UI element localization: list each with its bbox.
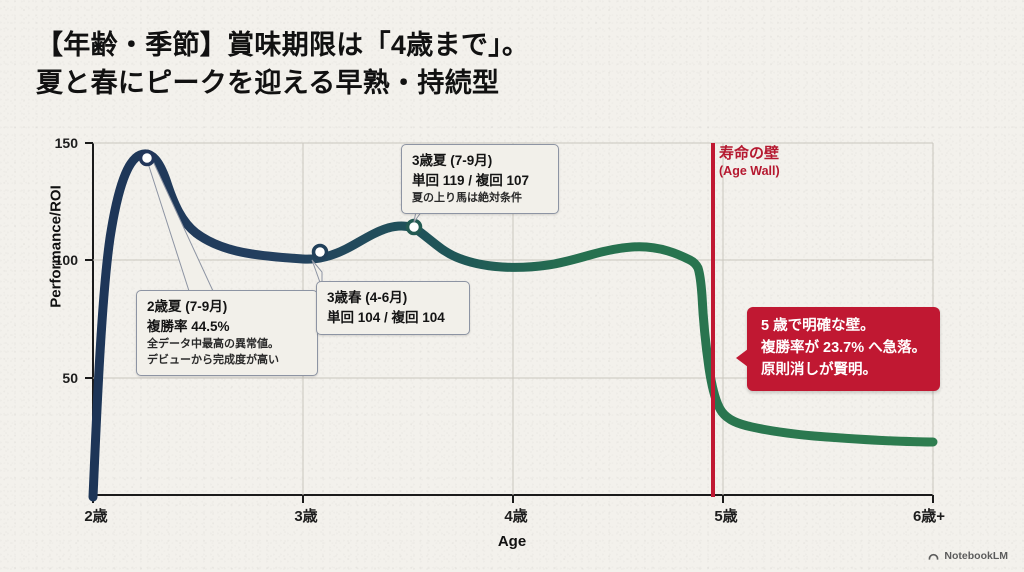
annotation-age3summer-note1: 夏の上り馬は絶対条件 (412, 191, 548, 206)
annotation-age2-title: 2歳夏 (7-9月) (147, 297, 307, 317)
age-wall-label-jp: 寿命の壁 (719, 145, 780, 163)
annotation-age2-stat: 複勝率 44.5% (147, 317, 307, 337)
chart-svg (0, 0, 1024, 572)
annotation-age3-summer: 3歳夏 (7-9月) 単回 119 / 複回 107 夏の上り馬は絶対条件 (401, 144, 559, 214)
x-tick-marks (93, 495, 933, 503)
annotation-age2-note1: 全データ中最高の異常値。 (147, 337, 307, 352)
marker-age3-spring (314, 246, 327, 259)
x-tick-4: 4歳 (504, 505, 527, 526)
annotation-age3summer-stat: 単回 119 / 複回 107 (412, 171, 548, 191)
annotation-age2-note2: デビューから完成度が高い (147, 353, 307, 368)
x-axis-title: Age (0, 533, 1024, 550)
age-wall-label-en: (Age Wall) (719, 163, 780, 179)
callout-leader-age2 (147, 159, 213, 291)
y-axis-title: Performance/ROI (48, 147, 65, 347)
annotation-age3-spring: 3歳春 (4-6月) 単回 104 / 複回 104 (316, 281, 470, 335)
annotation-age3spring-stat: 単回 104 / 複回 104 (327, 308, 459, 328)
watermark-label: NotebookLM (944, 550, 1008, 562)
annotation-age2-summer: 2歳夏 (7-9月) 複勝率 44.5% 全データ中最高の異常値。 デビューから… (136, 290, 318, 376)
x-tick-2: 2歳 (84, 505, 107, 526)
notebooklm-icon (927, 549, 940, 562)
notebooklm-watermark: NotebookLM (927, 549, 1008, 562)
age-wall-label: 寿命の壁 (Age Wall) (719, 145, 780, 179)
y-tick-50: 50 (36, 370, 78, 386)
annotation-agewall-line3: 原則消しが賢明。 (761, 360, 926, 382)
y-tick-marks (85, 143, 93, 378)
annotation-age-wall: 5 歳で明確な壁。 複勝率が 23.7% へ急落。 原則消しが賢明。 (747, 307, 940, 391)
x-tick-3: 3歳 (294, 505, 317, 526)
marker-age2-summer (141, 152, 154, 165)
annotation-agewall-line2: 複勝率が 23.7% へ急落。 (761, 338, 926, 360)
annotation-age3summer-title: 3歳夏 (7-9月) (412, 151, 548, 171)
x-tick-5: 5歳 (714, 505, 737, 526)
annotation-age3spring-title: 3歳春 (4-6月) (327, 288, 459, 308)
x-tick-6plus: 6歳+ (913, 505, 945, 526)
annotation-agewall-line1: 5 歳で明確な壁。 (761, 316, 926, 338)
performance-roi-line-chart: 150 100 50 Performance/ROI 2歳 3歳 4歳 5歳 6… (0, 0, 1024, 572)
